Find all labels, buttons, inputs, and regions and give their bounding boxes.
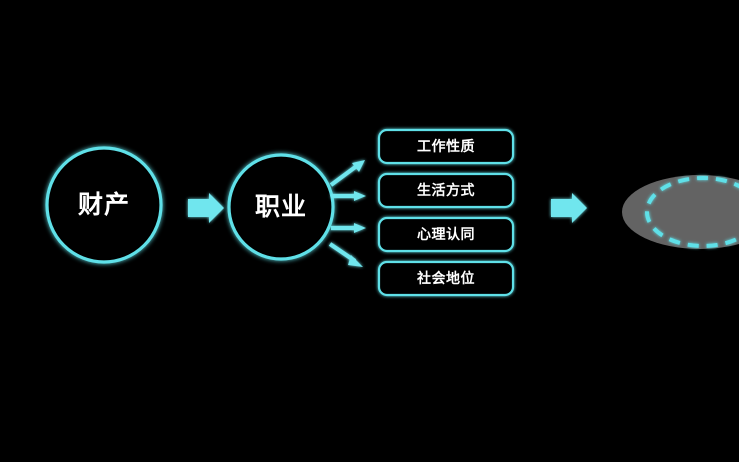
thin-arrow-to-lifestyle-shape (331, 191, 366, 201)
block-arrow-attributes-to-result-shape (551, 193, 587, 223)
thin-arrow-to-psychological-identity-shape (331, 223, 366, 233)
block-arrow-property-to-occupation-shape (188, 193, 224, 223)
attribute-box-work-nature[interactable] (379, 130, 513, 163)
thin-arrows-group (330, 160, 366, 267)
property-circle[interactable] (47, 148, 161, 262)
attribute-box-psychological-identity[interactable] (379, 218, 513, 251)
result-ellipse[interactable] (622, 175, 739, 249)
thin-arrow-to-work-nature-shape (331, 160, 365, 185)
attribute-box-lifestyle[interactable] (379, 174, 513, 207)
occupation-circle[interactable] (229, 155, 333, 259)
attribute-box-social-status[interactable] (379, 262, 513, 295)
thin-arrow-to-social-status-shape (330, 244, 363, 267)
slide-canvas: 财产 职业 工作性质 生活方式 心理认同 社会地位 (0, 0, 739, 462)
